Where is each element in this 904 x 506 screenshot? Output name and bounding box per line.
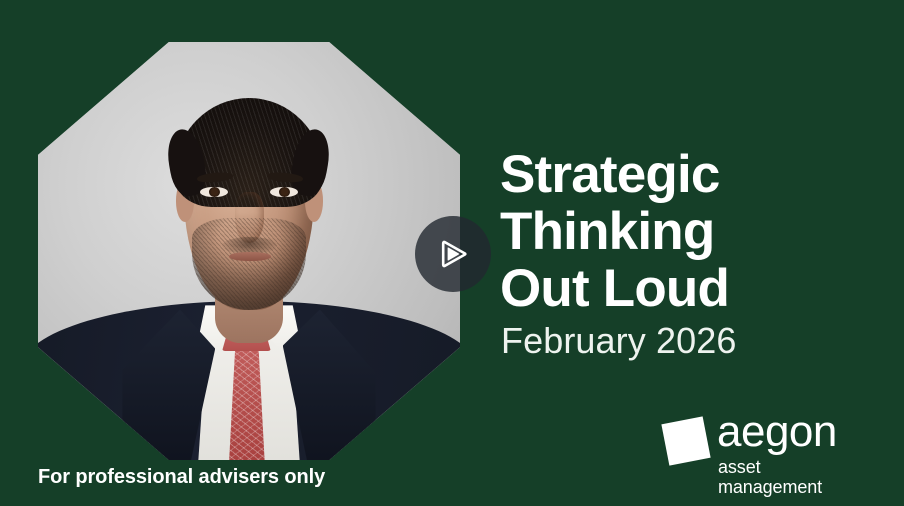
logo-tagline: asset management [718,457,865,497]
headline-line-2: Thinking [500,203,880,260]
logo-wordmark: aegon [717,409,837,455]
play-icon [433,234,473,274]
beard [192,218,306,310]
play-button[interactable] [415,216,491,292]
headline-line-3: Out Loud [500,260,880,317]
page-title: Strategic Thinking Out Loud [500,146,880,317]
headline-line-1: Strategic [500,146,880,203]
aegon-logo: aegon asset management [665,413,865,477]
aegon-diamond-icon [661,416,710,465]
subtitle-date: February 2026 [501,320,736,362]
portrait-octagon-frame [38,42,460,460]
hair [175,98,323,207]
disclaimer-text: For professional advisers only [38,466,325,489]
video-thumbnail-slide: Strategic Thinking Out Loud February 202… [0,0,904,506]
moustache [222,237,277,254]
speaker-portrait-photo [38,42,460,460]
